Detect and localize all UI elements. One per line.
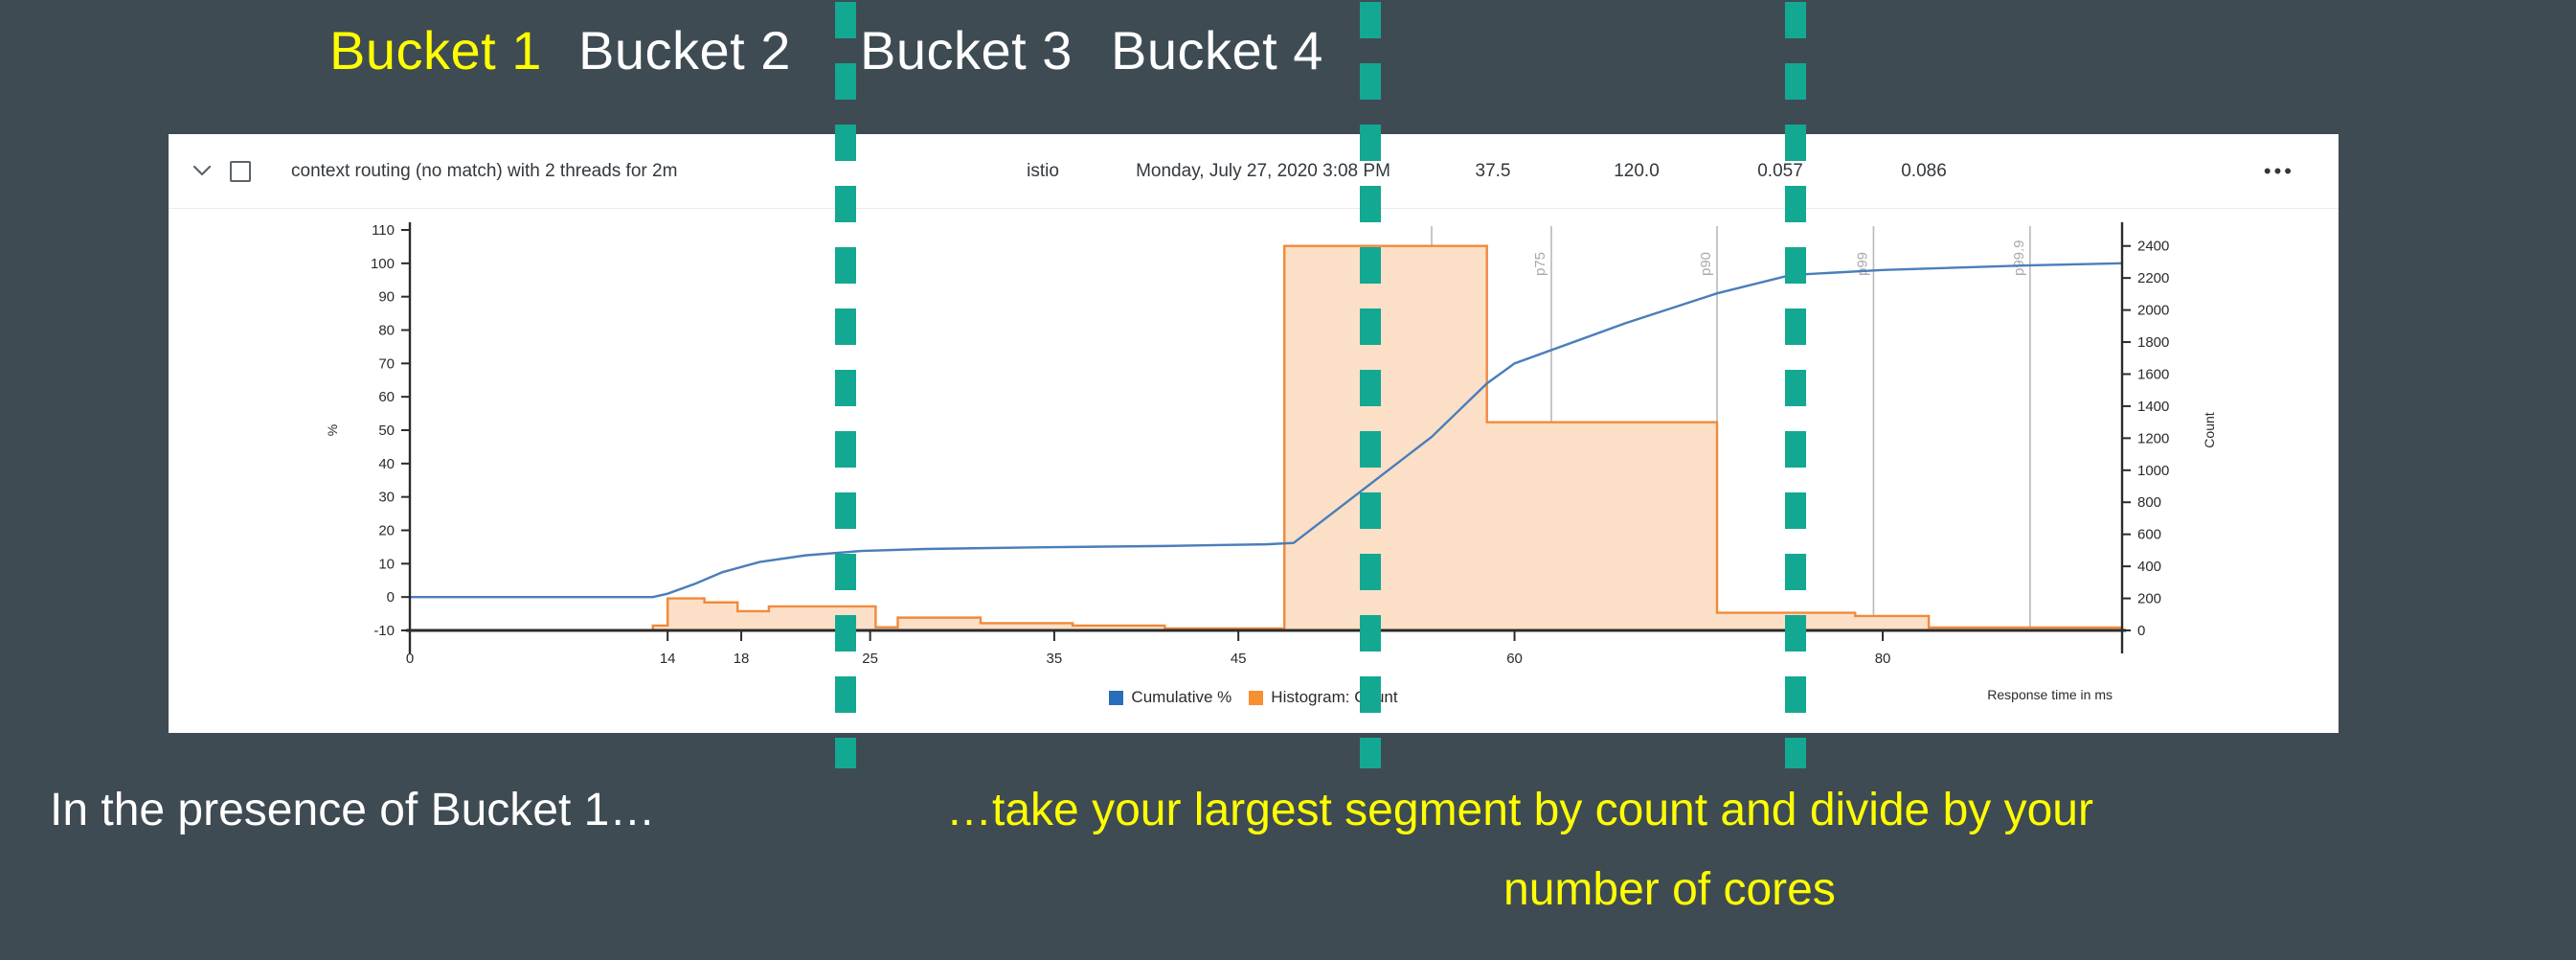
right-axis-tick: 1200: [2137, 430, 2169, 446]
percentile-label-p99.9: p99.9: [2011, 240, 2027, 276]
right-axis-tick: 200: [2137, 591, 2161, 607]
legend-item-cumulative: Cumulative %: [1109, 688, 1232, 707]
right-axis-tick: 1400: [2137, 399, 2169, 415]
left-axis-title: %: [325, 424, 340, 436]
card-header-row[interactable]: context routing (no match) with 2 thread…: [169, 134, 2339, 209]
right-axis-title: Count: [2202, 412, 2217, 447]
histogram-result-card: context routing (no match) with 2 thread…: [169, 134, 2339, 733]
left-axis-tick: 40: [378, 456, 395, 472]
x-axis-tick: 35: [1047, 651, 1063, 667]
left-axis-tick: 110: [372, 222, 395, 239]
chart-container: p50p75p90p99p99.9-1001020304050607080901…: [169, 209, 2339, 732]
metric-1: 37.5: [1421, 161, 1565, 182]
x-axis-tick: 80: [1875, 651, 1891, 667]
right-axis-tick: 2200: [2137, 270, 2169, 286]
x-axis-tick: 45: [1231, 651, 1247, 667]
caption-right-line-1: …take your largest segment by count and …: [946, 788, 2093, 834]
percentile-label-p90: p90: [1698, 252, 1714, 276]
bucket-label-1: Bucket 1: [329, 19, 542, 81]
left-axis-tick: 0: [387, 589, 395, 606]
right-axis-tick: 800: [2137, 494, 2161, 511]
left-axis-tick: 30: [378, 490, 395, 506]
right-axis-tick: 2400: [2137, 239, 2169, 255]
left-axis-tick: -10: [373, 623, 395, 639]
percentile-label-p75: p75: [1532, 252, 1548, 276]
metric-3: 0.057: [1708, 161, 1852, 182]
left-axis-tick: 90: [378, 289, 395, 306]
bucket-divider-2: [1360, 2, 1381, 768]
row-checkbox[interactable]: [230, 161, 251, 182]
chevron-down-icon[interactable]: [182, 163, 222, 179]
left-axis-tick: 80: [378, 323, 395, 339]
left-axis-tick: 100: [371, 256, 395, 272]
left-axis-tick: 20: [378, 523, 395, 539]
response-time-histogram-chart: p50p75p90p99p99.9-1001020304050607080901…: [169, 209, 2339, 732]
cumulative-percent-line: [410, 263, 2122, 597]
bucket-label-3: Bucket 3: [860, 19, 1073, 81]
x-axis-tick: 0: [406, 651, 414, 667]
caption-right-line-2: number of cores: [1503, 867, 1836, 914]
metric-4: 0.086: [1852, 161, 1996, 182]
left-axis-tick: 50: [378, 423, 395, 439]
histogram-area: [653, 246, 2122, 630]
left-axis-tick: 10: [378, 556, 395, 572]
right-axis-tick: 1000: [2137, 463, 2169, 479]
x-axis-tick: 18: [734, 651, 750, 667]
left-axis-tick: 60: [378, 389, 395, 405]
right-axis-tick: 0: [2137, 623, 2145, 639]
x-axis-tick: 14: [660, 651, 676, 667]
caption-left: In the presence of Bucket 1…: [50, 788, 655, 834]
slide-root: Bucket 1 Bucket 2 Bucket 3 Bucket 4 cont…: [0, 0, 2576, 960]
right-axis-tick: 600: [2137, 527, 2161, 543]
right-axis-tick: 2000: [2137, 303, 2169, 319]
x-axis-tick: 60: [1506, 651, 1523, 667]
x-axis-tick: 25: [862, 651, 878, 667]
metric-2: 120.0: [1565, 161, 1708, 182]
right-axis-tick: 400: [2137, 559, 2161, 575]
right-axis-tick: 1800: [2137, 334, 2169, 351]
legend-label-cumulative: Cumulative %: [1131, 688, 1232, 707]
bucket-divider-1: [835, 2, 856, 768]
legend-swatch-histogram: [1249, 691, 1263, 705]
run-tag: istio: [981, 161, 1105, 182]
left-axis-tick: 70: [378, 355, 395, 372]
bucket-label-4: Bucket 4: [1111, 19, 1323, 81]
bucket-divider-3: [1785, 2, 1806, 768]
bucket-label-2: Bucket 2: [578, 19, 791, 81]
legend-swatch-cumulative: [1109, 691, 1123, 705]
run-title: context routing (no match) with 2 thread…: [291, 161, 981, 182]
right-axis-tick: 1600: [2137, 366, 2169, 382]
more-options-icon[interactable]: •••: [2264, 159, 2294, 184]
chart-legend: Cumulative % Histogram: Count: [169, 688, 2339, 707]
